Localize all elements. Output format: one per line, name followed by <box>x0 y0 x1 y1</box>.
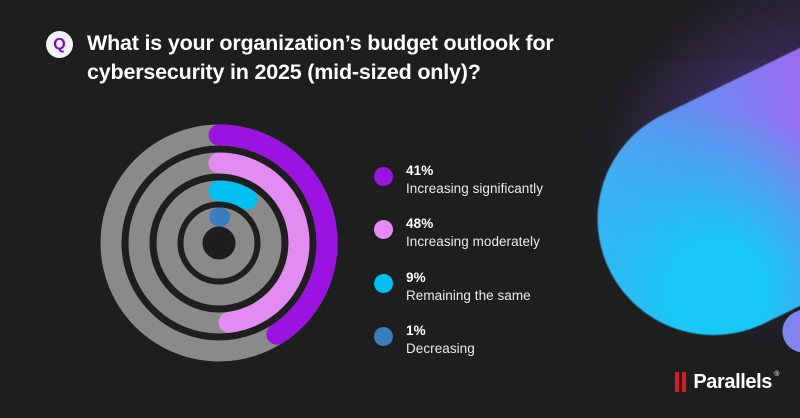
parallels-logo-bars-icon <box>675 372 686 392</box>
ring-value-3 <box>219 191 247 199</box>
legend-label: Increasing moderately <box>406 233 540 251</box>
page-title: What is your organization’s budget outlo… <box>87 29 557 86</box>
legend-percent: 41% <box>406 163 543 180</box>
ring-center-hub <box>210 234 228 252</box>
legend-label: Decreasing <box>406 340 475 358</box>
ring-group <box>111 135 327 351</box>
blob-glow-shade <box>560 60 800 360</box>
blob-glow-top <box>600 0 800 160</box>
legend-item-decreasing: 1% Decreasing <box>374 323 543 357</box>
radial-ring-chart <box>89 113 349 373</box>
legend-swatch-icon <box>374 167 393 186</box>
legend-percent: 9% <box>406 270 531 287</box>
chart-legend: 41% Increasing significantly 48% Increas… <box>374 163 543 358</box>
legend-percent: 1% <box>406 323 475 340</box>
legend-item-remaining-the-same: 9% Remaining the same <box>374 270 543 304</box>
legend-label: Increasing significantly <box>406 180 543 198</box>
infographic-poster: Q What is your organization’s budget out… <box>0 0 800 418</box>
registered-trademark-icon: ® <box>774 371 779 378</box>
question-badge-letter: Q <box>53 37 65 53</box>
legend-item-increasing-significantly: 41% Increasing significantly <box>374 163 543 197</box>
parallels-logo: Parallels® <box>675 372 772 392</box>
legend-percent: 48% <box>406 216 540 233</box>
question-badge-icon: Q <box>46 31 73 58</box>
legend-swatch-icon <box>374 220 393 239</box>
radial-ring-chart-svg <box>89 113 349 373</box>
parallels-logo-text: Parallels® <box>693 372 772 392</box>
gradient-blob-main <box>559 0 800 374</box>
legend-swatch-icon <box>374 274 393 293</box>
parallels-wordmark: Parallels <box>693 371 772 393</box>
legend-label: Remaining the same <box>406 287 531 305</box>
legend-item-increasing-moderately: 48% Increasing moderately <box>374 216 543 250</box>
headline-row: Q What is your organization’s budget out… <box>46 29 557 86</box>
gradient-blob-small <box>775 282 800 359</box>
legend-swatch-icon <box>374 327 393 346</box>
